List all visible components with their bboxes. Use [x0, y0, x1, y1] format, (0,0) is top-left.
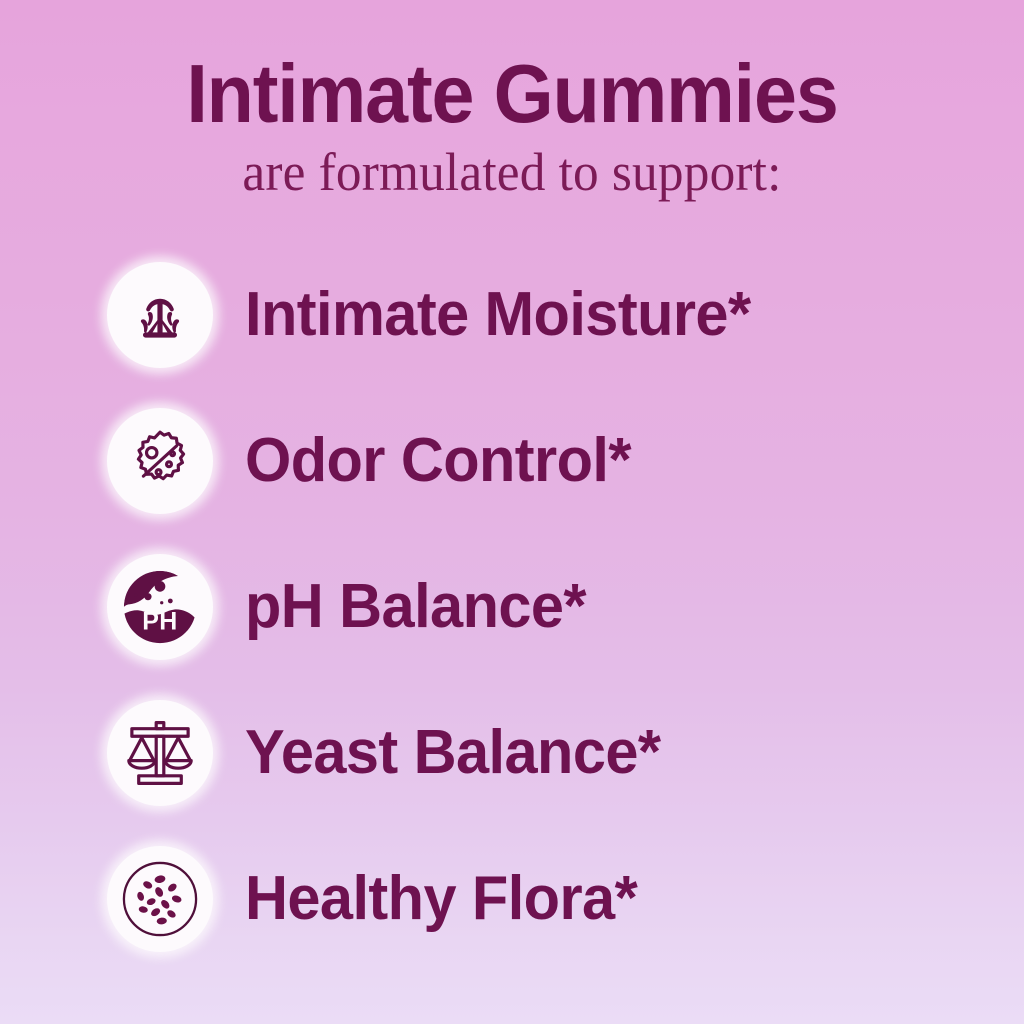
- benefit-row-healthy-flora: Healthy Flora*: [0, 846, 1024, 952]
- promo-poster: Intimate Gummies are formulated to suppo…: [0, 0, 1024, 1024]
- benefit-label: Healthy Flora*: [245, 868, 637, 930]
- benefit-row-yeast-balance: Yeast Balance*: [0, 700, 1024, 806]
- benefit-label: Yeast Balance*: [245, 722, 660, 784]
- benefit-list: Intimate Moisture* Odor Control*: [0, 262, 1024, 992]
- benefit-label: Odor Control*: [245, 430, 631, 492]
- balance-scale-icon: [107, 700, 213, 806]
- page-subtitle: are formulated to support:: [26, 143, 999, 202]
- ph-icon-text: PH: [142, 607, 178, 635]
- petri-dish-flora-icon: [107, 846, 213, 952]
- fountain-icon: [107, 262, 213, 368]
- benefit-row-odor-control: Odor Control*: [0, 408, 1024, 514]
- benefit-label: pH Balance*: [245, 576, 586, 638]
- ph-liquid-icon: PH: [107, 554, 213, 660]
- page-title: Intimate Gummies: [36, 52, 988, 137]
- benefit-row-ph-balance: PH pH Balance*: [0, 554, 1024, 660]
- benefit-row-intimate-moisture: Intimate Moisture*: [0, 262, 1024, 368]
- heading-block: Intimate Gummies are formulated to suppo…: [0, 52, 1024, 202]
- scalloped-circle-slash-icon: [107, 408, 213, 514]
- benefit-label: Intimate Moisture*: [245, 284, 751, 346]
